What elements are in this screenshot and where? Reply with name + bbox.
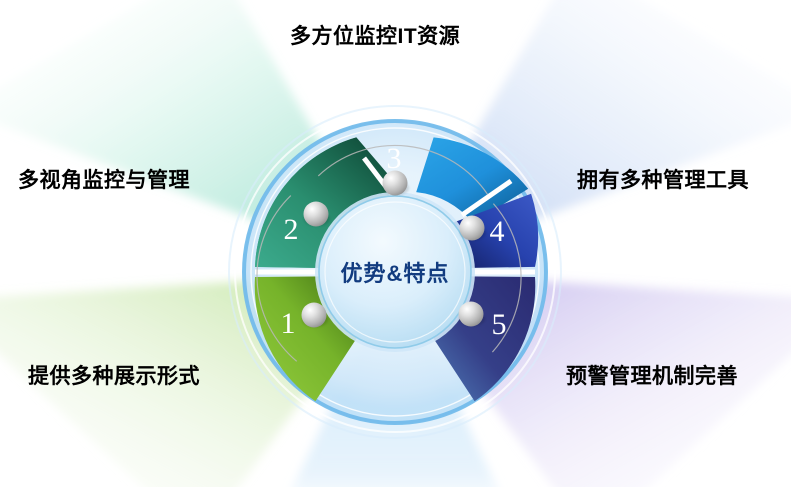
segment-number-2: 2 (284, 213, 299, 246)
label-top: 多方位监控IT资源 (290, 26, 460, 47)
infographic-canvas: 1 2 3 4 5 优势&特点 多方位监控IT资源 多视角监控与管理 拥有多种管… (0, 0, 791, 487)
label-right-top: 拥有多种管理工具 (577, 170, 749, 191)
radial-diagram: 1 2 3 4 5 优势&特点 (0, 0, 791, 487)
center-label: 优势&特点 (341, 261, 450, 286)
label-left-top: 多视角监控与管理 (18, 170, 190, 191)
label-left-bottom: 提供多种展示形式 (28, 366, 200, 387)
segment-number-3: 3 (387, 142, 402, 175)
segment-number-5: 5 (492, 308, 507, 341)
segment-number-4: 4 (490, 215, 505, 248)
segment-number-1: 1 (281, 307, 296, 340)
label-right-bottom: 预警管理机制完善 (566, 366, 738, 387)
